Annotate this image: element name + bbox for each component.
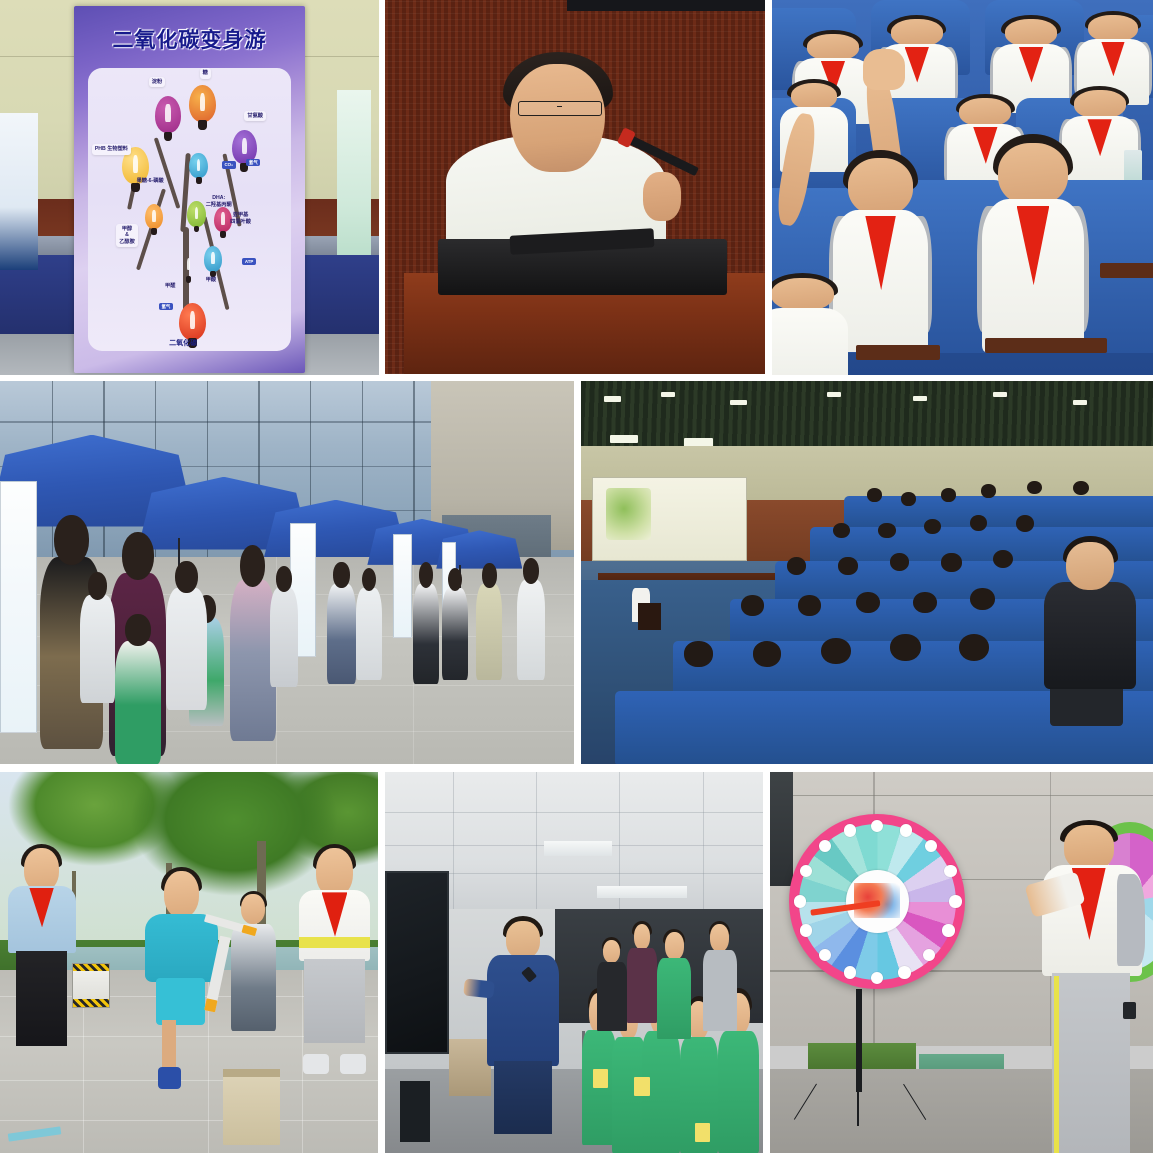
slide-graphic xyxy=(606,488,652,541)
ceiling-grid xyxy=(581,381,1153,446)
rollup-banner xyxy=(0,481,37,734)
node-starch xyxy=(155,96,181,133)
cardboard-box xyxy=(449,1039,491,1096)
projection-screen xyxy=(592,477,746,561)
path-mid-left xyxy=(154,137,181,208)
wheel-tripod-legs xyxy=(816,1084,904,1126)
node-formaldehyde xyxy=(179,252,197,277)
window-dark xyxy=(770,772,793,886)
panel-arrow-throw-game xyxy=(0,772,378,1153)
visitor xyxy=(476,584,502,680)
label-phb: PHB 生物塑料 xyxy=(92,144,131,155)
adult-back xyxy=(597,940,627,1031)
label-starch: 淀粉 xyxy=(149,77,165,88)
visitor xyxy=(413,584,439,684)
adult-background xyxy=(231,894,276,1031)
panel-lab-presentation xyxy=(385,772,763,1153)
speaker-head xyxy=(510,64,605,172)
no-parking-sign xyxy=(72,963,110,1009)
tag-co2: CO₂ xyxy=(222,161,236,169)
seat-armrest xyxy=(985,338,1107,353)
panel-outdoor-tent-fair xyxy=(0,381,574,764)
glasses-icon xyxy=(518,101,602,116)
ceiling-strip xyxy=(567,0,765,11)
raised-hand-icon xyxy=(863,49,905,90)
display-screen xyxy=(385,871,449,1054)
node-methanol xyxy=(145,204,163,229)
label-formate: 甲酸 xyxy=(206,277,216,284)
label-glycine: 甘氨酸 xyxy=(244,111,266,122)
visitor xyxy=(517,580,546,680)
prize-wheel[interactable] xyxy=(789,814,965,989)
child-right xyxy=(299,848,371,1069)
poster-title: 二氧化碳变身游 xyxy=(83,22,296,55)
lectern xyxy=(638,603,661,630)
ceiling-light xyxy=(597,886,688,897)
seated-man-foreground xyxy=(1044,542,1136,726)
label-formaldehyde: 甲醛 xyxy=(165,283,175,290)
node-dha xyxy=(187,201,205,226)
seat-armrest xyxy=(856,345,940,360)
child-left xyxy=(8,848,76,1046)
child-back xyxy=(657,932,691,1039)
photo-collage: 二氧化碳变身游 xyxy=(0,0,1153,1153)
adult-back xyxy=(627,924,657,1023)
side-banner-right xyxy=(337,90,371,255)
visitor xyxy=(327,584,356,684)
panel-auditorium-lecture xyxy=(581,381,1153,764)
speaker-hand xyxy=(643,172,681,221)
student-spinning-wheel xyxy=(1042,825,1142,1153)
panel-poster-co2-journey: 二氧化碳变身游 xyxy=(0,0,379,375)
label-mthf: 亚甲基 四氢叶酸 xyxy=(230,212,251,225)
label-dha: DHA: 二羟基丙酮 xyxy=(206,195,232,208)
ticket-card xyxy=(695,1123,710,1142)
node-f6p xyxy=(189,153,207,178)
presenter xyxy=(487,921,559,1134)
wristwatch xyxy=(1123,1002,1136,1018)
student-front-right xyxy=(982,143,1085,353)
label-methanol-ethanolamine: 甲醇 & 乙醇胺 xyxy=(116,224,138,248)
node-formate xyxy=(204,246,222,271)
poster-diagram: PHB 生物塑料 淀粉 糖 甘氨酸 果糖-6-磷酸 DHA: 二羟基丙酮 亚甲基… xyxy=(88,68,291,351)
ticket-card xyxy=(593,1069,608,1088)
presenter-arm xyxy=(463,979,495,999)
label-sugar: 糖 xyxy=(200,68,211,79)
seat-armrest xyxy=(1100,263,1153,278)
visitor xyxy=(270,588,299,688)
label-f6p: 果糖-6-磷酸 xyxy=(137,178,164,185)
panel-speaker-podium xyxy=(385,0,765,374)
visitor xyxy=(442,588,468,680)
visitor xyxy=(80,595,114,702)
teen-back xyxy=(703,924,737,1031)
visitor xyxy=(356,588,382,680)
child-throwing xyxy=(147,871,215,1084)
visitor-child xyxy=(115,641,161,764)
side-banner-left xyxy=(0,113,38,271)
display-stand xyxy=(400,1081,430,1142)
label-co2-bottom: 二氧化碳 xyxy=(169,340,197,349)
node-co2 xyxy=(179,303,205,340)
target-box xyxy=(223,1069,280,1145)
tag-atp: ATP xyxy=(242,258,255,266)
visitor xyxy=(166,588,206,711)
node-sugar xyxy=(189,85,215,122)
rollup-banner xyxy=(393,534,411,637)
panel-prize-wheel xyxy=(770,772,1153,1153)
wheel-stand-pole xyxy=(856,989,862,1092)
ceiling-light xyxy=(544,841,612,856)
student-foreground xyxy=(772,278,848,376)
visitor xyxy=(230,580,276,741)
ticket-card xyxy=(634,1077,649,1096)
tag-hydrogen-2: 氢气 xyxy=(159,303,173,311)
panel-students-raising-hands xyxy=(772,0,1153,375)
rollup-poster: 二氧化碳变身游 xyxy=(74,6,305,374)
tag-hydrogen: 氢气 xyxy=(246,159,260,167)
